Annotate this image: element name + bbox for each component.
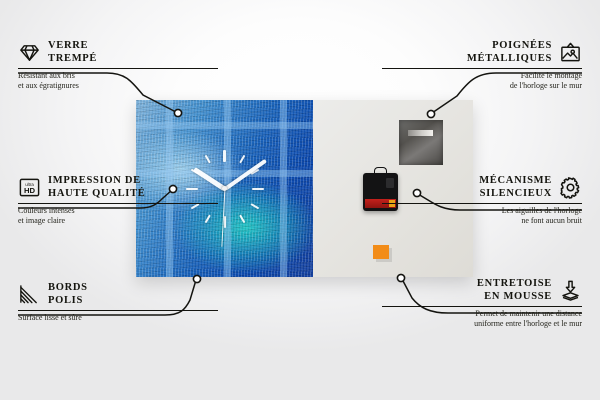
callout-desc-line1: Résistant aux bris bbox=[18, 71, 218, 81]
clock-pivot bbox=[222, 186, 227, 191]
callout-desc-line2: et image claire bbox=[18, 216, 218, 226]
clock-minute-hand bbox=[223, 158, 266, 190]
callout-divider bbox=[18, 203, 218, 204]
callout-desc-line2: uniforme entre l'horloge et le mur bbox=[382, 319, 582, 329]
foam-spacer bbox=[373, 245, 389, 259]
callout-title: MÉCANISME SILENCIEUX bbox=[479, 175, 552, 200]
callout-divider bbox=[18, 310, 218, 311]
gear-icon bbox=[559, 176, 582, 199]
hanger-slot bbox=[408, 130, 433, 136]
callout-verre-trempe: VERRE TREMPÉ Résistant aux bris et aux é… bbox=[18, 40, 218, 91]
callout-divider bbox=[382, 306, 582, 307]
diamond-icon bbox=[18, 41, 41, 64]
callout-header: MÉCANISME SILENCIEUX bbox=[382, 175, 582, 200]
callout-desc-line1: Surface lisse et sûre bbox=[18, 313, 218, 323]
metal-hanger-plate bbox=[399, 120, 443, 165]
callout-divider bbox=[382, 68, 582, 69]
callout-title: POIGNÉES MÉTALLIQUES bbox=[467, 40, 552, 65]
callout-title: VERRE TREMPÉ bbox=[48, 40, 97, 65]
callout-title: IMPRESSION DE HAUTE QUALITÉ bbox=[48, 175, 146, 200]
callout-header: VERRE TREMPÉ bbox=[18, 40, 218, 65]
callout-poignees-metalliques: POIGNÉES MÉTALLIQUES Facilite le montage… bbox=[382, 40, 582, 91]
callout-divider bbox=[382, 203, 582, 204]
callout-header: BORDS POLIS bbox=[18, 282, 218, 307]
callout-divider bbox=[18, 68, 218, 69]
callout-bords-polis: BORDS POLIS Surface lisse et sûre bbox=[18, 282, 218, 323]
callout-title: BORDS POLIS bbox=[48, 282, 88, 307]
foam-spacer-icon bbox=[559, 279, 582, 302]
callout-desc-line1: Facilite le montage bbox=[382, 71, 582, 81]
callout-header: ultra HD IMPRESSION DE HAUTE QUALITÉ bbox=[18, 175, 218, 200]
ultra-hd-icon: ultra HD bbox=[18, 176, 41, 199]
callout-desc-line2: et aux égratignures bbox=[18, 81, 218, 91]
callout-desc-line2: de l'horloge sur le mur bbox=[382, 81, 582, 91]
callout-desc-line1: Les aiguilles de l'horloge bbox=[382, 206, 582, 216]
callout-mecanisme-silencieux: MÉCANISME SILENCIEUX Les aiguilles de l'… bbox=[382, 175, 582, 226]
callout-desc-line1: Permet de maintenir une distance bbox=[382, 309, 582, 319]
svg-text:HD: HD bbox=[24, 186, 36, 195]
callout-impression-haute-qualite: ultra HD IMPRESSION DE HAUTE QUALITÉ Cou… bbox=[18, 175, 218, 226]
callout-header: ENTRETOISE EN MOUSSE bbox=[382, 278, 582, 303]
callout-desc-line1: Couleurs intenses bbox=[18, 206, 218, 216]
callout-title: ENTRETOISE EN MOUSSE bbox=[477, 278, 552, 303]
polished-edge-icon bbox=[18, 283, 41, 306]
mechanism-bail bbox=[374, 167, 387, 175]
callout-entretoise-en-mousse: ENTRETOISE EN MOUSSE Permet de maintenir… bbox=[382, 278, 582, 329]
callout-header: POIGNÉES MÉTALLIQUES bbox=[382, 40, 582, 65]
callout-desc-line2: ne font aucun bruit bbox=[382, 216, 582, 226]
infographic-stage: VERRE TREMPÉ Résistant aux bris et aux é… bbox=[0, 0, 600, 400]
picture-frame-icon bbox=[559, 41, 582, 64]
